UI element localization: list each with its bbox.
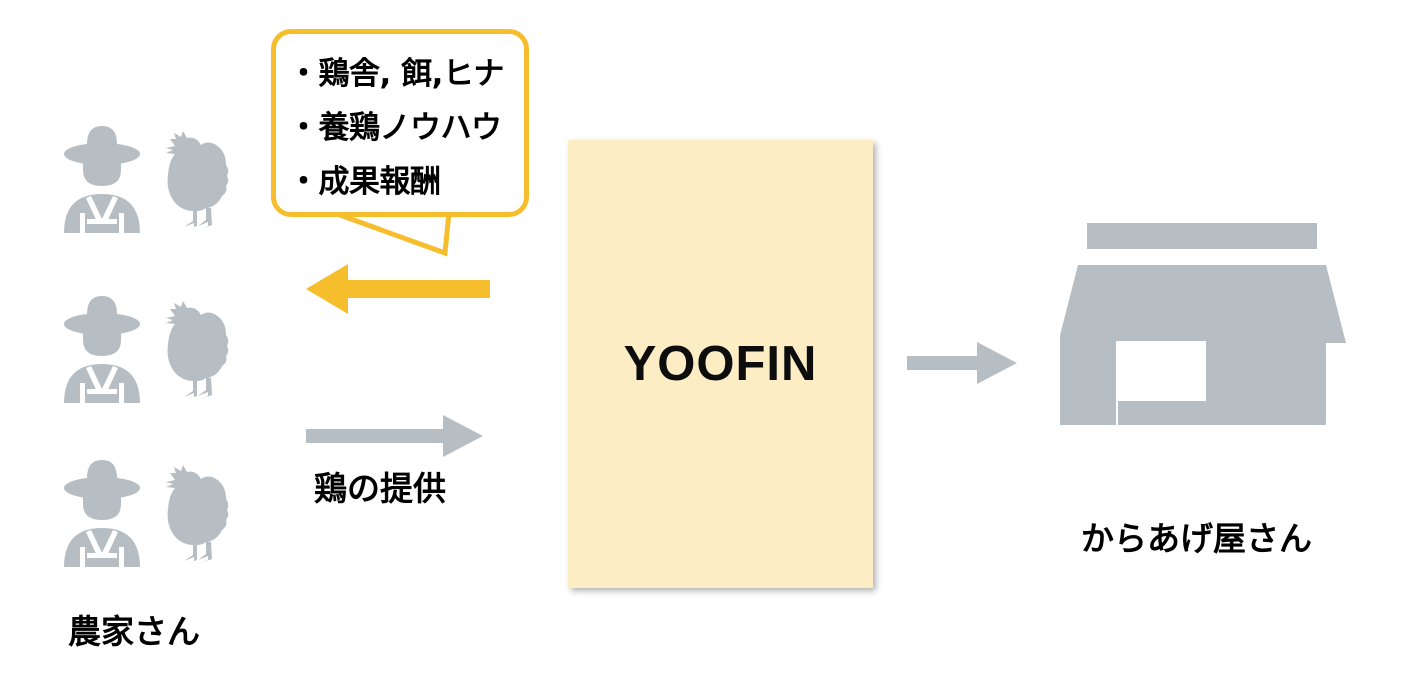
farmer-row-1	[56, 118, 256, 233]
arrow-yoofin-to-shop	[905, 338, 1020, 388]
chicken-icon	[156, 460, 234, 568]
arrow-farmers-to-yoofin	[303, 412, 488, 460]
value-offer-bubble: ・鶏舎, 餌,ヒナ ・養鶏ノウハウ ・成果報酬	[271, 29, 529, 217]
farmer-row-3	[56, 452, 256, 567]
yoofin-box: YOOFIN	[568, 140, 873, 588]
chicken-supply-label: 鶏の提供	[314, 462, 446, 510]
bubble-item-list: ・鶏舎, 餌,ヒナ ・養鶏ノウハウ ・成果報酬	[288, 47, 518, 209]
chicken-icon	[156, 296, 234, 404]
karaage-shop-label: からあげ屋さん	[1081, 512, 1312, 560]
farmer-icon	[56, 118, 148, 233]
diagram-canvas: 農家さん ・鶏舎, 餌,ヒナ ・養鶏ノウハウ ・成果報酬 鶏の提供 YOOFIN	[0, 0, 1404, 690]
farmer-icon	[56, 452, 148, 567]
storefront-icon	[1060, 215, 1352, 480]
farmers-label: 農家さん	[68, 605, 200, 653]
bubble-item: ・鶏舎, 餌,ヒナ	[288, 47, 518, 101]
farmer-row-2	[56, 288, 256, 403]
farmer-icon	[56, 288, 148, 403]
bubble-item: ・養鶏ノウハウ	[288, 101, 518, 155]
yoofin-label: YOOFIN	[624, 336, 818, 392]
chicken-icon	[156, 126, 234, 234]
bubble-item: ・成果報酬	[288, 155, 518, 209]
